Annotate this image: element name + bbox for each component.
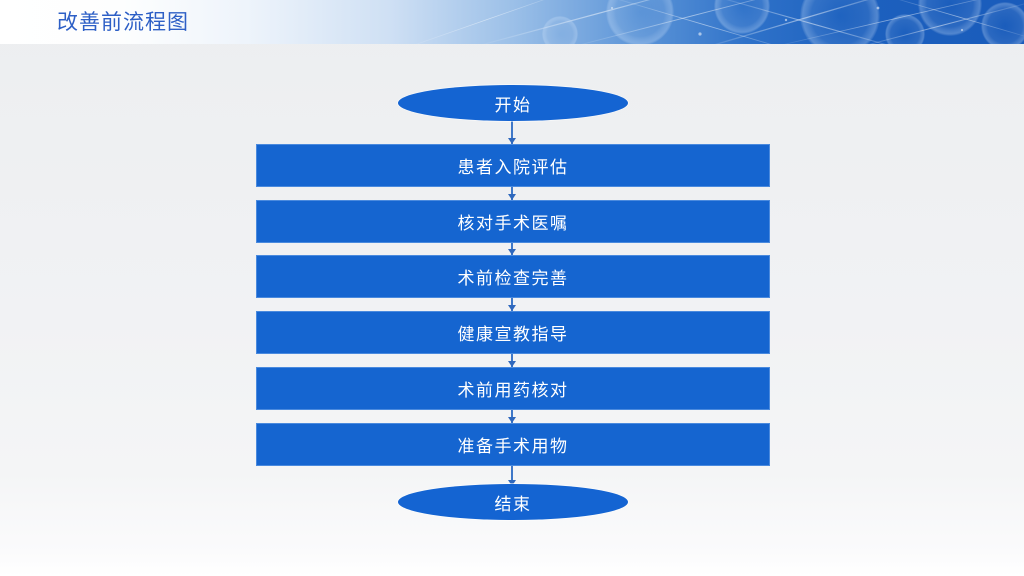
flow-node-step-5-label: 术前用药核对 bbox=[458, 376, 569, 401]
flow-node-start[interactable]: 开始 bbox=[398, 85, 628, 121]
flow-node-end-label: 结束 bbox=[495, 490, 532, 515]
flow-node-step-6-label: 准备手术用物 bbox=[458, 432, 569, 457]
flow-node-step-1[interactable]: 患者入院评估 bbox=[256, 144, 770, 187]
flow-node-end[interactable]: 结束 bbox=[398, 484, 628, 520]
flow-node-start-label: 开始 bbox=[495, 91, 532, 116]
flow-node-step-3[interactable]: 术前检查完善 bbox=[256, 255, 770, 298]
flow-node-step-3-label: 术前检查完善 bbox=[458, 264, 569, 289]
flow-node-step-1-label: 患者入院评估 bbox=[458, 153, 569, 178]
page-title: 改善前流程图 bbox=[57, 9, 189, 35]
flowchart: 开始 患者入院评估 核对手术医嘱 术前检查完善 健康宣教指导 术前用药核对 准备… bbox=[0, 44, 1024, 576]
slide-canvas: 改善前流程图 开始 患者入院评估 核对手术医嘱 术前检查完善 bbox=[0, 0, 1024, 576]
flow-node-step-2[interactable]: 核对手术医嘱 bbox=[256, 200, 770, 243]
flow-node-step-6[interactable]: 准备手术用物 bbox=[256, 423, 770, 466]
flow-node-step-2-label: 核对手术医嘱 bbox=[458, 209, 569, 234]
flow-node-step-4-label: 健康宣教指导 bbox=[458, 320, 569, 345]
flow-node-step-5[interactable]: 术前用药核对 bbox=[256, 367, 770, 410]
slide-header-band: 改善前流程图 bbox=[0, 0, 1024, 44]
flow-node-step-4[interactable]: 健康宣教指导 bbox=[256, 311, 770, 354]
